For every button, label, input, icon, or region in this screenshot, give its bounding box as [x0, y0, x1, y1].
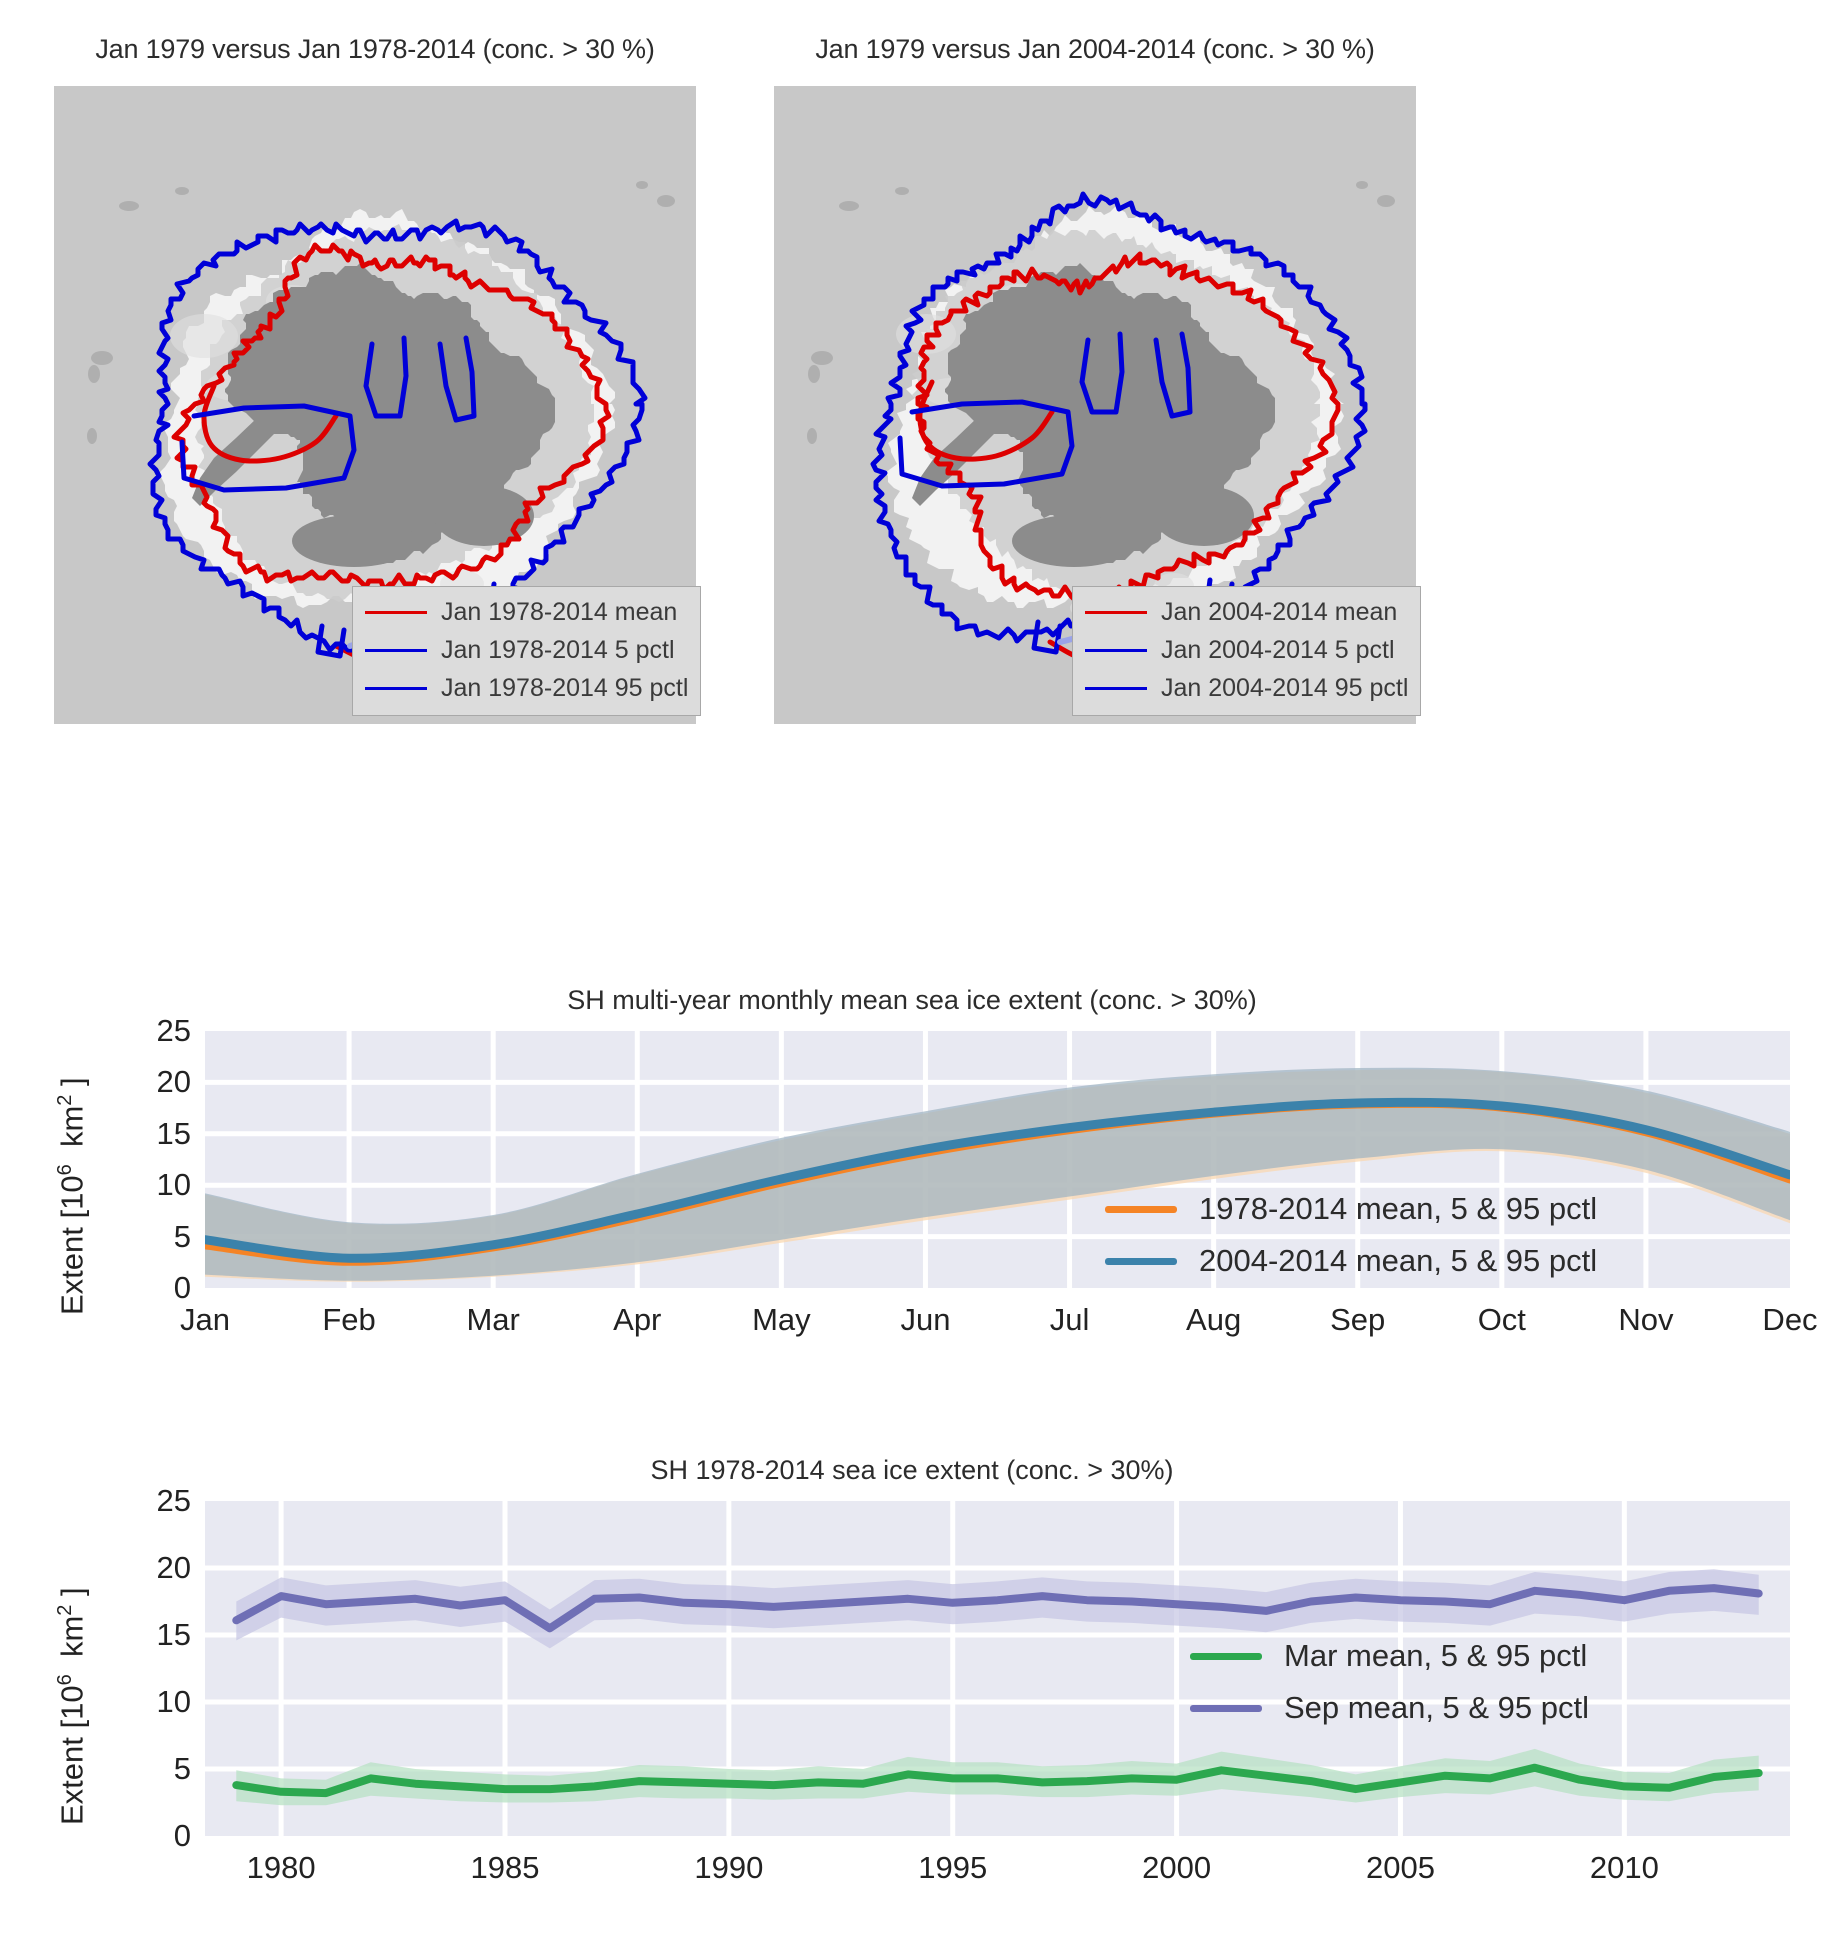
chart-title: SH 1978-2014 sea ice extent (conc. > 30%…: [0, 1455, 1824, 1486]
p95-line-swatch: [365, 687, 427, 690]
y-tick-label: 0: [133, 1270, 191, 1306]
legend-label: Jan 1978-2014 5 pctl: [441, 636, 675, 665]
chart-monthly-climatology: SH multi-year monthly mean sea ice exten…: [0, 985, 1824, 1365]
y-tick-label: 5: [133, 1219, 191, 1255]
x-tick-label: Oct: [1478, 1302, 1526, 1338]
p5-line-swatch: [1085, 649, 1147, 652]
legend-label: Jan 2004-2014 5 pctl: [1161, 636, 1395, 665]
y-tick-label: 15: [133, 1617, 191, 1653]
x-tick-label: 1990: [694, 1850, 763, 1886]
legend-item: Jan 2004-2014 5 pctl: [1085, 631, 1408, 669]
y-tick-label: 10: [133, 1167, 191, 1203]
legend-label: Jan 1978-2014 95 pctl: [441, 674, 688, 703]
legend-item: Jan 1978-2014 5 pctl: [365, 631, 688, 669]
legend-item: Jan 2004-2014 mean: [1085, 593, 1408, 631]
y-tick-label: 25: [133, 1483, 191, 1519]
series-swatch-mar: [1190, 1653, 1262, 1660]
y-axis-label: Extent [106 km2 ]: [54, 1587, 90, 1825]
legend-item: 1978-2014 mean, 5 & 95 pctl: [1105, 1183, 1597, 1235]
x-tick-label: Feb: [322, 1302, 375, 1338]
legend-item: Jan 1978-2014 mean: [365, 593, 688, 631]
legend-label: Sep mean, 5 & 95 pctl: [1284, 1690, 1589, 1726]
sea-ice-figure: Jan 1979 versus Jan 1978-2014 (conc. > 3…: [0, 0, 1824, 1956]
x-tick-label: Apr: [613, 1302, 661, 1338]
x-tick-label: 2000: [1142, 1850, 1211, 1886]
legend-label: Jan 2004-2014 95 pctl: [1161, 674, 1408, 703]
series-swatch-1978-2014: [1105, 1206, 1177, 1213]
legend-item: Jan 1978-2014 95 pctl: [365, 669, 688, 707]
x-tick-label: Aug: [1186, 1302, 1241, 1338]
x-tick-label: Jun: [900, 1302, 950, 1338]
chart-title: SH multi-year monthly mean sea ice exten…: [0, 985, 1824, 1016]
legend-label: 2004-2014 mean, 5 & 95 pctl: [1199, 1243, 1597, 1279]
map-right-legend: Jan 2004-2014 mean Jan 2004-2014 5 pctl …: [1072, 586, 1421, 716]
map-left-title: Jan 1979 versus Jan 1978-2014 (conc. > 3…: [54, 34, 696, 65]
legend-item: Sep mean, 5 & 95 pctl: [1190, 1682, 1589, 1734]
x-tick-label: 1980: [247, 1850, 316, 1886]
y-tick-label: 20: [133, 1550, 191, 1586]
x-tick-label: 2005: [1366, 1850, 1435, 1886]
y-tick-label: 25: [133, 1013, 191, 1049]
legend-item: 2004-2014 mean, 5 & 95 pctl: [1105, 1235, 1597, 1287]
legend-item: Mar mean, 5 & 95 pctl: [1190, 1630, 1589, 1682]
y-axis-label: Extent [106 km2 ]: [54, 1077, 90, 1315]
x-tick-label: May: [752, 1302, 811, 1338]
mean-line-swatch: [1085, 611, 1147, 614]
legend-label: 1978-2014 mean, 5 & 95 pctl: [1199, 1191, 1597, 1227]
x-tick-label: 1985: [471, 1850, 540, 1886]
map-left-legend: Jan 1978-2014 mean Jan 1978-2014 5 pctl …: [352, 586, 701, 716]
map-right-title: Jan 1979 versus Jan 2004-2014 (conc. > 3…: [774, 34, 1416, 65]
map-panel-left: Jan 1979 versus Jan 1978-2014 (conc. > 3…: [54, 86, 696, 724]
x-tick-label: Nov: [1618, 1302, 1673, 1338]
legend-label: Jan 2004-2014 mean: [1161, 598, 1397, 627]
y-tick-label: 10: [133, 1684, 191, 1720]
mean-line-swatch: [365, 611, 427, 614]
y-tick-label: 0: [133, 1818, 191, 1854]
legend-label: Mar mean, 5 & 95 pctl: [1284, 1638, 1587, 1674]
x-tick-label: Dec: [1762, 1302, 1817, 1338]
chart-annual-extent: SH 1978-2014 sea ice extent (conc. > 30%…: [0, 1455, 1824, 1905]
legend-item: Jan 2004-2014 95 pctl: [1085, 669, 1408, 707]
legend-label: Jan 1978-2014 mean: [441, 598, 677, 627]
x-tick-label: Jul: [1050, 1302, 1090, 1338]
chart-legend: Mar mean, 5 & 95 pctl Sep mean, 5 & 95 p…: [1190, 1630, 1589, 1734]
p5-line-swatch: [365, 649, 427, 652]
y-tick-label: 20: [133, 1064, 191, 1100]
y-tick-label: 15: [133, 1116, 191, 1152]
series-swatch-2004-2014: [1105, 1258, 1177, 1265]
series-swatch-sep: [1190, 1705, 1262, 1712]
y-tick-label: 5: [133, 1751, 191, 1787]
chart-legend: 1978-2014 mean, 5 & 95 pctl 2004-2014 me…: [1105, 1183, 1597, 1287]
x-tick-label: 2010: [1590, 1850, 1659, 1886]
p95-line-swatch: [1085, 687, 1147, 690]
map-panel-right: Jan 1979 versus Jan 2004-2014 (conc. > 3…: [774, 86, 1416, 724]
x-tick-label: Sep: [1330, 1302, 1385, 1338]
x-tick-label: Mar: [466, 1302, 519, 1338]
x-tick-label: 1995: [918, 1850, 987, 1886]
x-tick-label: Jan: [180, 1302, 230, 1338]
